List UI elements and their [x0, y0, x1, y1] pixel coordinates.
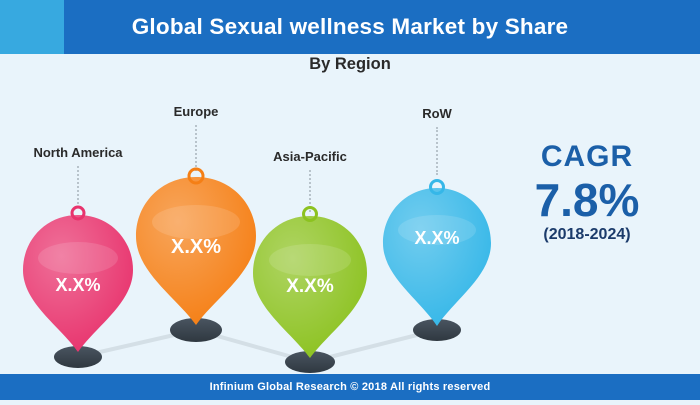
cagr-period: (2018-2024) — [492, 226, 682, 244]
value-north-america: X.X% — [55, 275, 100, 296]
pin-europe[interactable] — [136, 177, 256, 342]
pin-shine-europe — [152, 205, 240, 239]
pin-shine-asia-pacific — [269, 244, 351, 276]
cagr-value: 7.8% — [492, 176, 682, 224]
value-europe: X.X% — [171, 236, 221, 259]
leader-line-europe — [195, 125, 197, 171]
ring-asia-pacific — [302, 206, 318, 222]
value-asia-pacific: X.X% — [286, 276, 334, 298]
cagr-block: CAGR 7.8% (2018-2024) — [492, 140, 682, 244]
label-north-america: North America — [33, 145, 122, 160]
value-row: X.X% — [414, 228, 459, 249]
infographic-page: Global Sexual wellness Market by Share B… — [0, 0, 700, 400]
leader-line-row — [436, 127, 438, 175]
pin-row[interactable] — [383, 188, 491, 341]
pin-shine-north-america — [38, 242, 118, 274]
connector-lines — [78, 330, 437, 362]
chart-area: North America X.X% Europe X.X% Asia-Paci… — [0, 0, 700, 400]
label-europe: Europe — [174, 104, 219, 119]
label-row: RoW — [422, 106, 452, 121]
leader-line-north-america — [77, 166, 79, 208]
label-asia-pacific: Asia-Pacific — [273, 149, 347, 164]
ring-north-america — [71, 206, 86, 221]
cagr-label: CAGR — [492, 140, 682, 174]
ring-europe — [188, 168, 205, 185]
footer-bar: Infinium Global Research © 2018 All righ… — [0, 374, 700, 400]
ring-row — [429, 179, 445, 195]
pin-gloss-row — [383, 188, 491, 326]
copyright-text: Infinium Global Research © 2018 All righ… — [210, 381, 491, 393]
